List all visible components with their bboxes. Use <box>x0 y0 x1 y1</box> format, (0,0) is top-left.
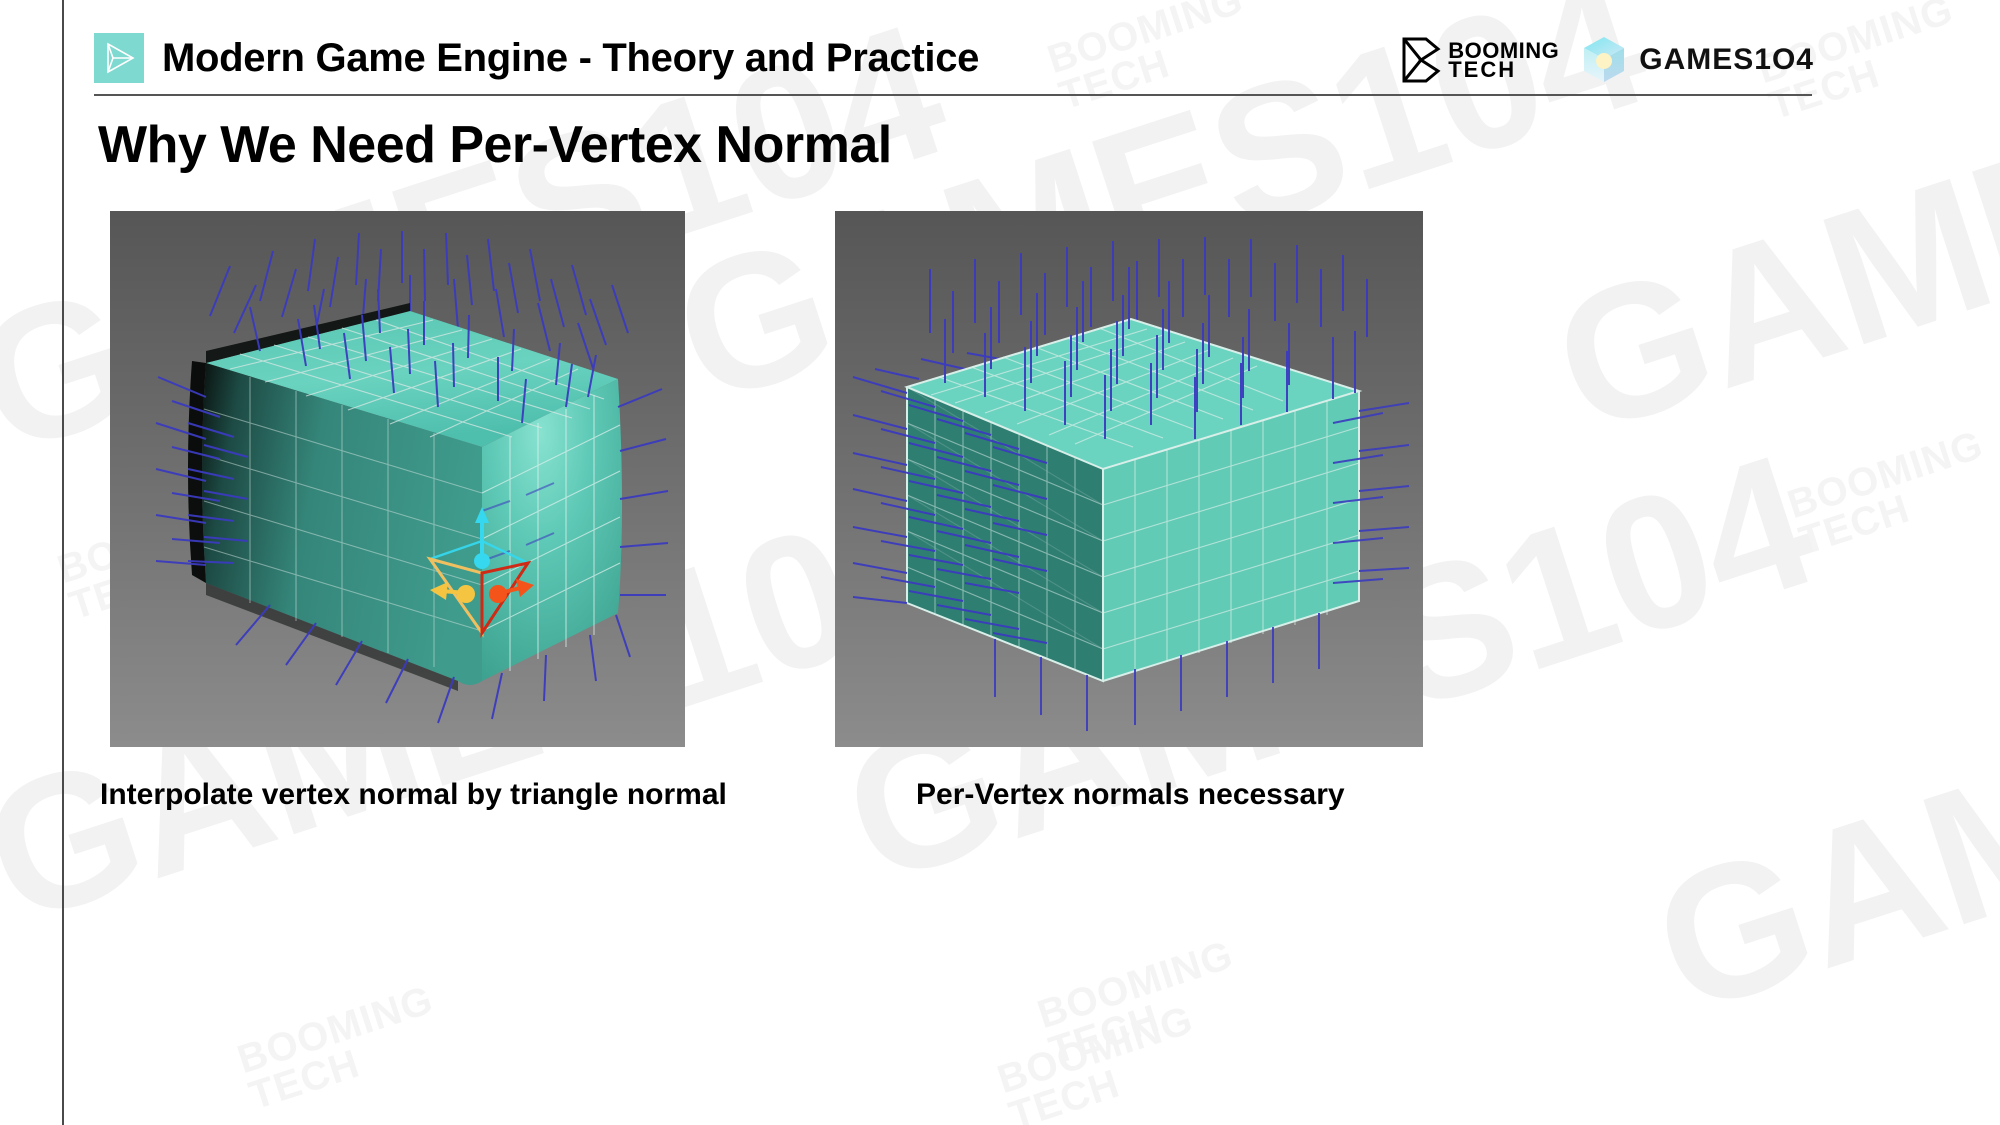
viewport-left <box>110 211 685 747</box>
caption-smooth-cube: Interpolate vertex normal by triangle no… <box>100 778 727 812</box>
figure-area: Interpolate vertex normal by triangle no… <box>0 0 2000 1125</box>
caption-hard-cube: Per-Vertex normals necessary <box>916 778 1345 812</box>
slide-root: GAMES104 GAMES104 GAMES104 GAMES104 GAME… <box>0 0 2000 1125</box>
viewport-right <box>835 211 1423 747</box>
figure-smooth-cube <box>110 211 685 747</box>
figure-hard-cube <box>835 211 1423 747</box>
